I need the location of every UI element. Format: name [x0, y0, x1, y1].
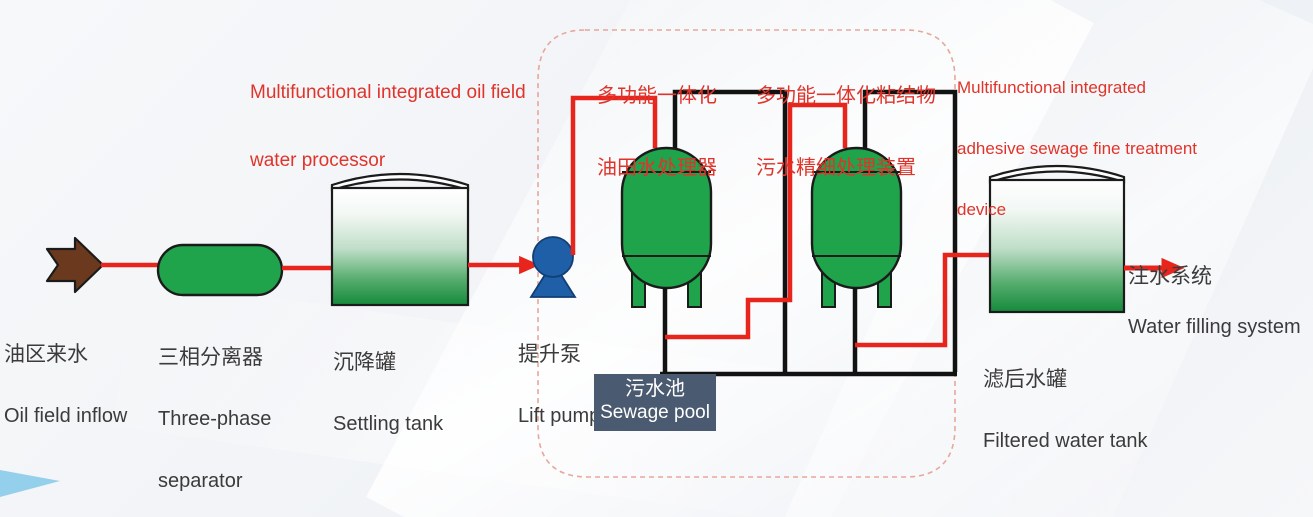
label-three-phase-separator: 三相分离器 Three-phase separator [158, 308, 271, 517]
label-lift-pump: 提升泵 Lift pump [518, 305, 600, 467]
label-filtered-water-tank: 滤后水罐 Filtered water tank [983, 330, 1148, 492]
callout-water-processor-en: Multifunctional integrated oil field wat… [250, 36, 600, 218]
label-settling-tank: 沉降罐 Settling tank [333, 313, 443, 475]
process-flow-diagram: Multifunctional integrated oil field wat… [0, 0, 1313, 517]
callout-fine-treatment-cn: 多功能一体化粘结物 污水精细处理装置 [756, 36, 936, 228]
oil-field-inflow-arrow [47, 238, 103, 292]
decorative-blue-wedge [0, 470, 60, 497]
callout-water-processor-cn: 多功能一体化 油田水处理器 [597, 36, 717, 228]
three-phase-separator [158, 245, 282, 295]
sewage-pool: 污水池 Sewage pool [594, 374, 716, 431]
lift-pump-body [533, 237, 573, 277]
label-water-filling-system-en: Water filling system [1128, 278, 1301, 377]
label-oil-field-inflow: 油区来水 Oil field inflow [4, 305, 127, 467]
